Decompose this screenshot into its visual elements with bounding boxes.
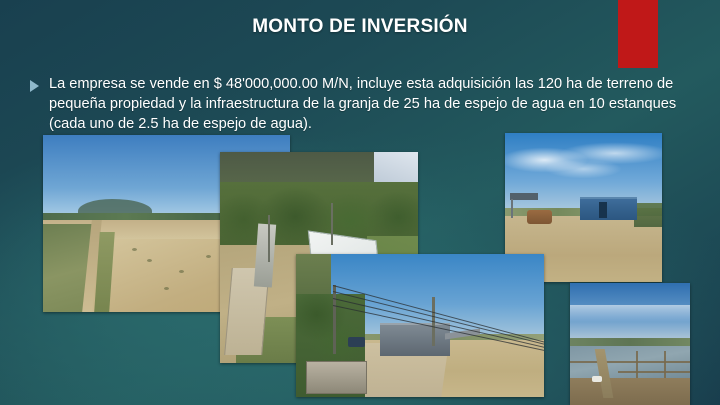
canopy-post-shape <box>511 199 513 218</box>
brush-shape <box>634 203 662 227</box>
parked-vehicle-shape <box>348 337 365 347</box>
debris-pile-shape <box>527 210 552 223</box>
presentation-slide: MONTO DE INVERSIÓN La empresa se vende e… <box>0 0 720 405</box>
canopy-roof-shape <box>510 193 538 200</box>
pond-levee-shape <box>570 361 690 363</box>
antenna-mast-shape <box>331 203 333 245</box>
shoreline-shape <box>570 338 690 347</box>
pond-levee-shape <box>664 351 666 380</box>
page-title: MONTO DE INVERSIÓN <box>0 16 720 38</box>
antenna-mast-shape <box>268 215 270 261</box>
shed-door-shape <box>599 202 607 218</box>
photo-container-shed <box>296 254 544 397</box>
ground-speck <box>179 270 184 273</box>
ground-speck <box>147 259 152 262</box>
boat-shape <box>592 376 603 382</box>
pond-levee-shape <box>618 371 690 373</box>
bullet-triangle-icon <box>30 80 39 92</box>
blue-shed-shape <box>580 197 637 220</box>
cloud-shape <box>505 142 662 187</box>
photo-water-ponds <box>570 283 690 405</box>
concrete-tank-shape <box>306 361 368 394</box>
bullet-paragraph: La empresa se vende en $ 48'000,000.00 M… <box>30 74 690 134</box>
bullet-text: La empresa se vende en $ 48'000,000.00 M… <box>49 74 690 134</box>
utility-pole-shape <box>333 285 336 354</box>
pond-levee-shape <box>636 351 638 380</box>
foreland-shape <box>570 378 690 405</box>
cloud-shape <box>570 305 690 322</box>
